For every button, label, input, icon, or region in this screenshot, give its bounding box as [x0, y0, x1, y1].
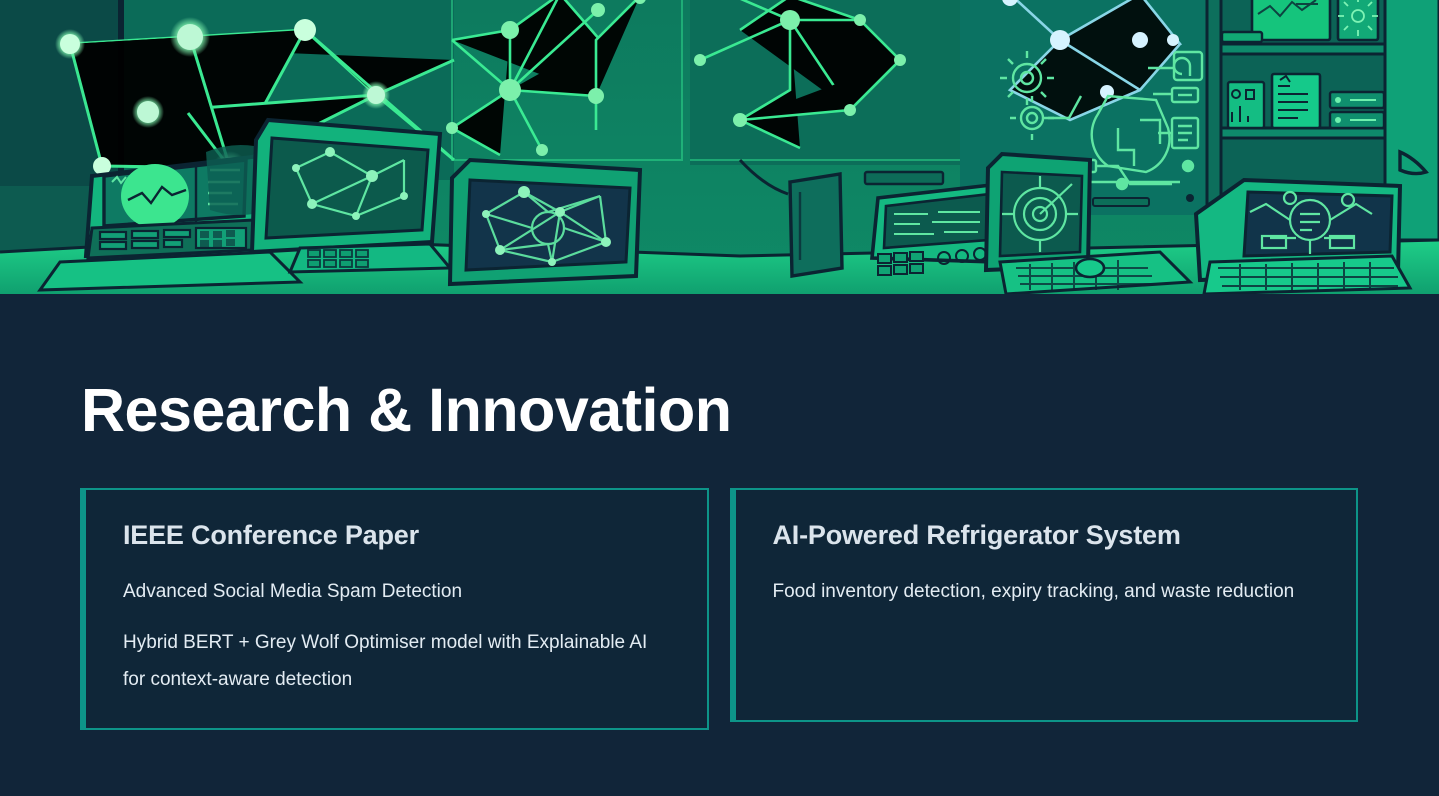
card-description: Hybrid BERT + Grey Wolf Optimiser model …	[123, 624, 673, 698]
research-card-ai-powered-refrigerator-system[interactable]: AI-Powered Refrigerator System Food inve…	[730, 488, 1359, 722]
page-title: Research & Innovation	[81, 378, 732, 442]
card-title: AI-Powered Refrigerator System	[773, 520, 1323, 551]
research-card-ieee-conference-paper[interactable]: IEEE Conference Paper Advanced Social Me…	[80, 488, 709, 730]
card-subtitle: Advanced Social Media Spam Detection	[123, 573, 673, 610]
card-title: IEEE Conference Paper	[123, 520, 673, 551]
research-cards: IEEE Conference Paper Advanced Social Me…	[80, 488, 1358, 730]
research-section: Research & Innovation IEEE Conference Pa…	[0, 294, 1439, 796]
research-innovation-page: Research & Innovation IEEE Conference Pa…	[0, 0, 1439, 796]
card-subtitle: Food inventory detection, expiry trackin…	[773, 573, 1323, 610]
research-lab-illustration	[0, 0, 1439, 294]
